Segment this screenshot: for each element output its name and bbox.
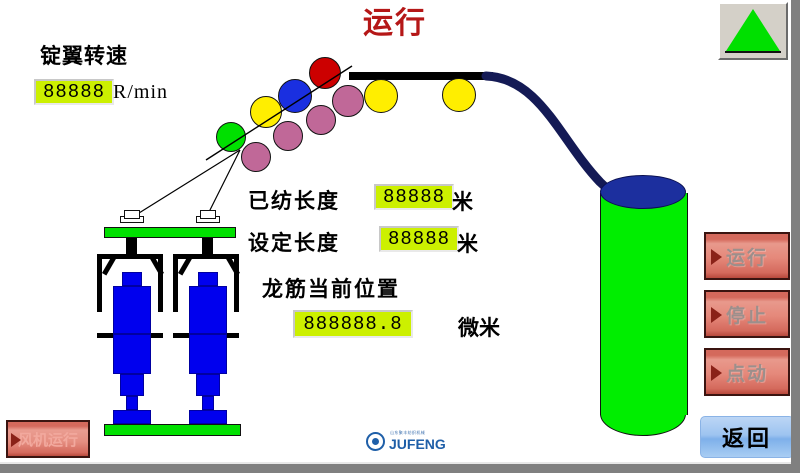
bobbin-pink-1 [241, 142, 271, 172]
run-button[interactable]: 运行 [704, 232, 790, 280]
top-rail-plate [104, 227, 236, 238]
fan-run-button-label: 风机运行 [18, 429, 78, 450]
play-arrow-icon [711, 249, 722, 265]
bobbin-pink-2 [273, 121, 303, 151]
set-length-value[interactable]: 88888 [379, 226, 459, 252]
bobbin-pink-4 [332, 85, 364, 117]
bottom-rail-plate [104, 424, 241, 436]
rail-position-value[interactable]: 888888.8 [293, 310, 413, 338]
bobbin-yellow-3 [442, 78, 476, 112]
flyer-speed-value[interactable]: 88888 [34, 79, 114, 105]
droplet-icon [366, 432, 385, 451]
window-edge-right [791, 0, 800, 464]
bobbin-green [216, 122, 246, 152]
flyer-speed-unit: R/min [113, 81, 168, 104]
jog-button[interactable]: 点动 [704, 348, 790, 396]
logo-wordmark: JUFENG [389, 436, 446, 452]
window-edge-bottom [0, 464, 800, 473]
set-length-unit: 米 [457, 228, 478, 258]
flyer-speed-label: 锭翼转速 [40, 40, 128, 70]
rail-position-label: 龙筋当前位置 [262, 273, 400, 303]
vendor-logo: 山东聚丰纺织机械 JUFENG [366, 428, 444, 454]
play-arrow-icon [11, 433, 21, 447]
spun-length-label: 已纺长度 [248, 185, 340, 215]
stop-button-label: 停止 [726, 301, 768, 328]
set-length-label: 设定长度 [248, 227, 340, 257]
bobbin-yellow-2 [364, 79, 398, 113]
yarn-thread-right [206, 150, 240, 218]
bobbin-red [309, 57, 341, 89]
page-title: 运行 [330, 0, 460, 42]
sliver-can-top [600, 175, 686, 209]
bobbin-yellow-1 [250, 96, 282, 128]
back-button-label: 返回 [722, 421, 772, 453]
up-triangle-button[interactable] [718, 2, 788, 60]
triangle-baseline [725, 51, 781, 53]
spun-length-unit: 米 [452, 186, 473, 216]
run-button-label: 运行 [726, 243, 768, 270]
fan-run-button[interactable]: 风机运行 [6, 420, 90, 458]
up-triangle-icon [726, 9, 780, 51]
rail-position-unit: 微米 [458, 312, 500, 342]
play-arrow-icon [711, 307, 722, 323]
back-button[interactable]: 返回 [700, 416, 794, 458]
jog-button-label: 点动 [726, 359, 768, 386]
guide-bar [349, 72, 493, 80]
yarn-thread-left [131, 150, 240, 218]
spun-length-value[interactable]: 88888 [374, 184, 454, 210]
bobbin-blue [278, 79, 312, 113]
stop-button[interactable]: 停止 [704, 290, 790, 338]
play-arrow-icon [711, 365, 722, 381]
hmi-screen: 运行 锭翼转速 88888 R/min 已纺长度 88888 米 设定长度 88… [0, 0, 800, 473]
bobbin-pink-3 [306, 105, 336, 135]
sliver-can-body [600, 193, 688, 415]
